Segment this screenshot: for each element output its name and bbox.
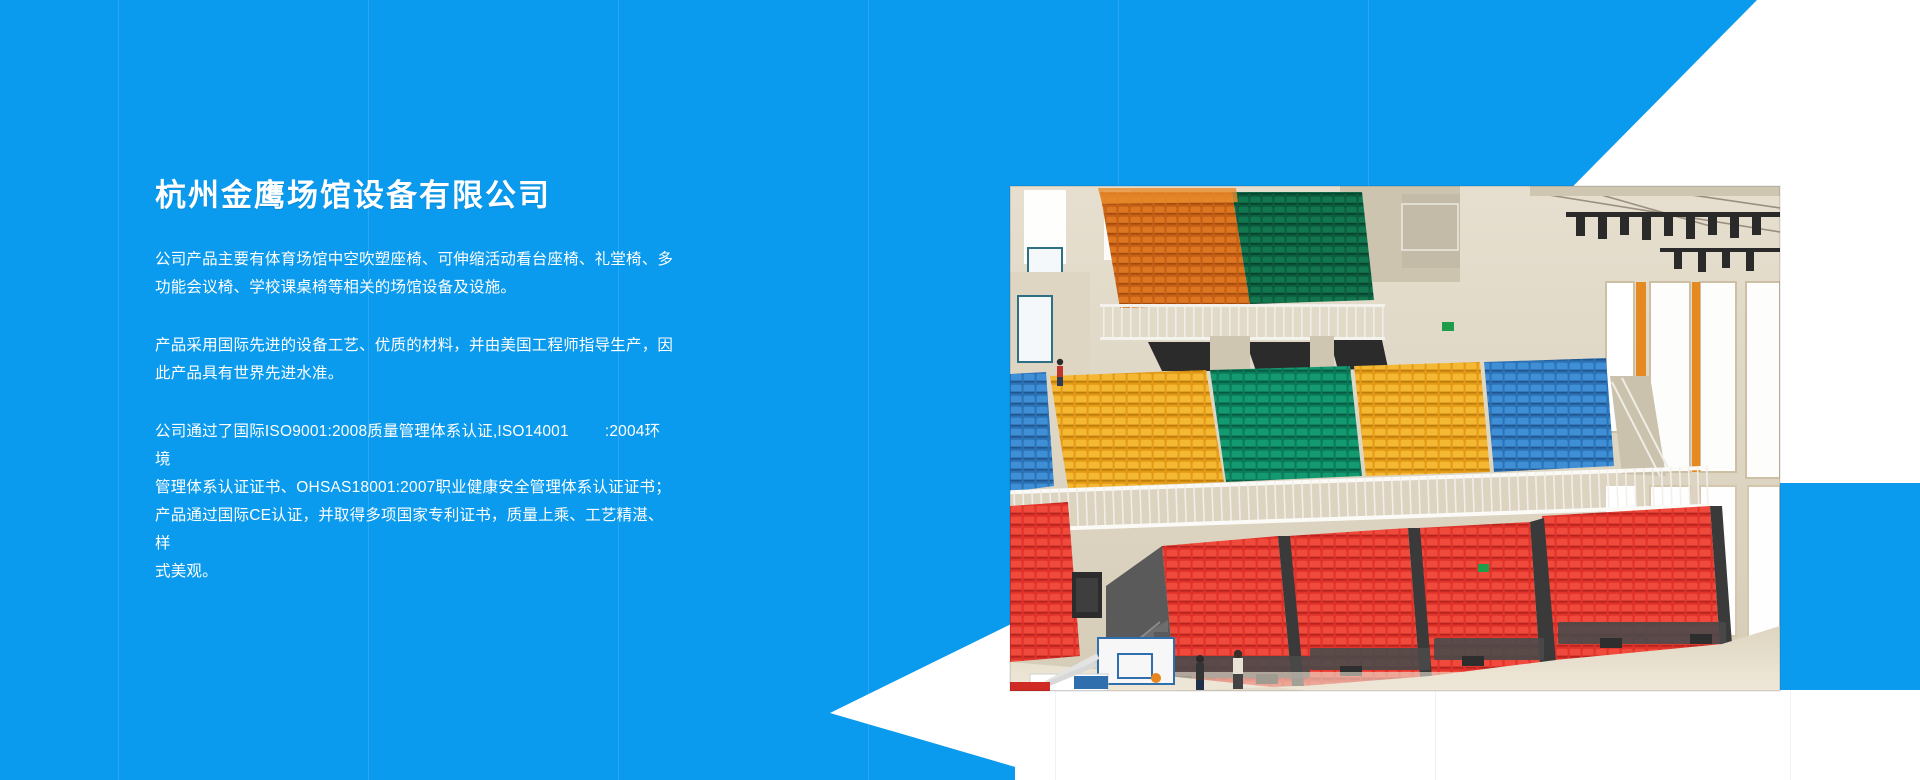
hero-banner: 杭州金鹰场馆设备有限公司 公司产品主要有体育场馆中空吹塑座椅、可伸缩活动看台座椅… <box>0 0 1920 780</box>
hero-paragraph-products: 公司产品主要有体育场馆中空吹塑座椅、可伸缩活动看台座椅、礼堂椅、多 功能会议椅、… <box>155 246 675 302</box>
hero-paragraph-certifications: 公司通过了国际ISO9001:2008质量管理体系认证,ISO14001 :20… <box>155 418 675 586</box>
gymnasium-photo <box>1010 186 1780 691</box>
hero-text-column: 杭州金鹰场馆设备有限公司 公司产品主要有体育场馆中空吹塑座椅、可伸缩活动看台座椅… <box>155 176 675 586</box>
company-title: 杭州金鹰场馆设备有限公司 <box>155 176 675 216</box>
hero-paragraph-quality: 产品采用国际先进的设备工艺、优质的材料，并由美国工程师指导生产，因 此产品具有世… <box>155 332 675 388</box>
